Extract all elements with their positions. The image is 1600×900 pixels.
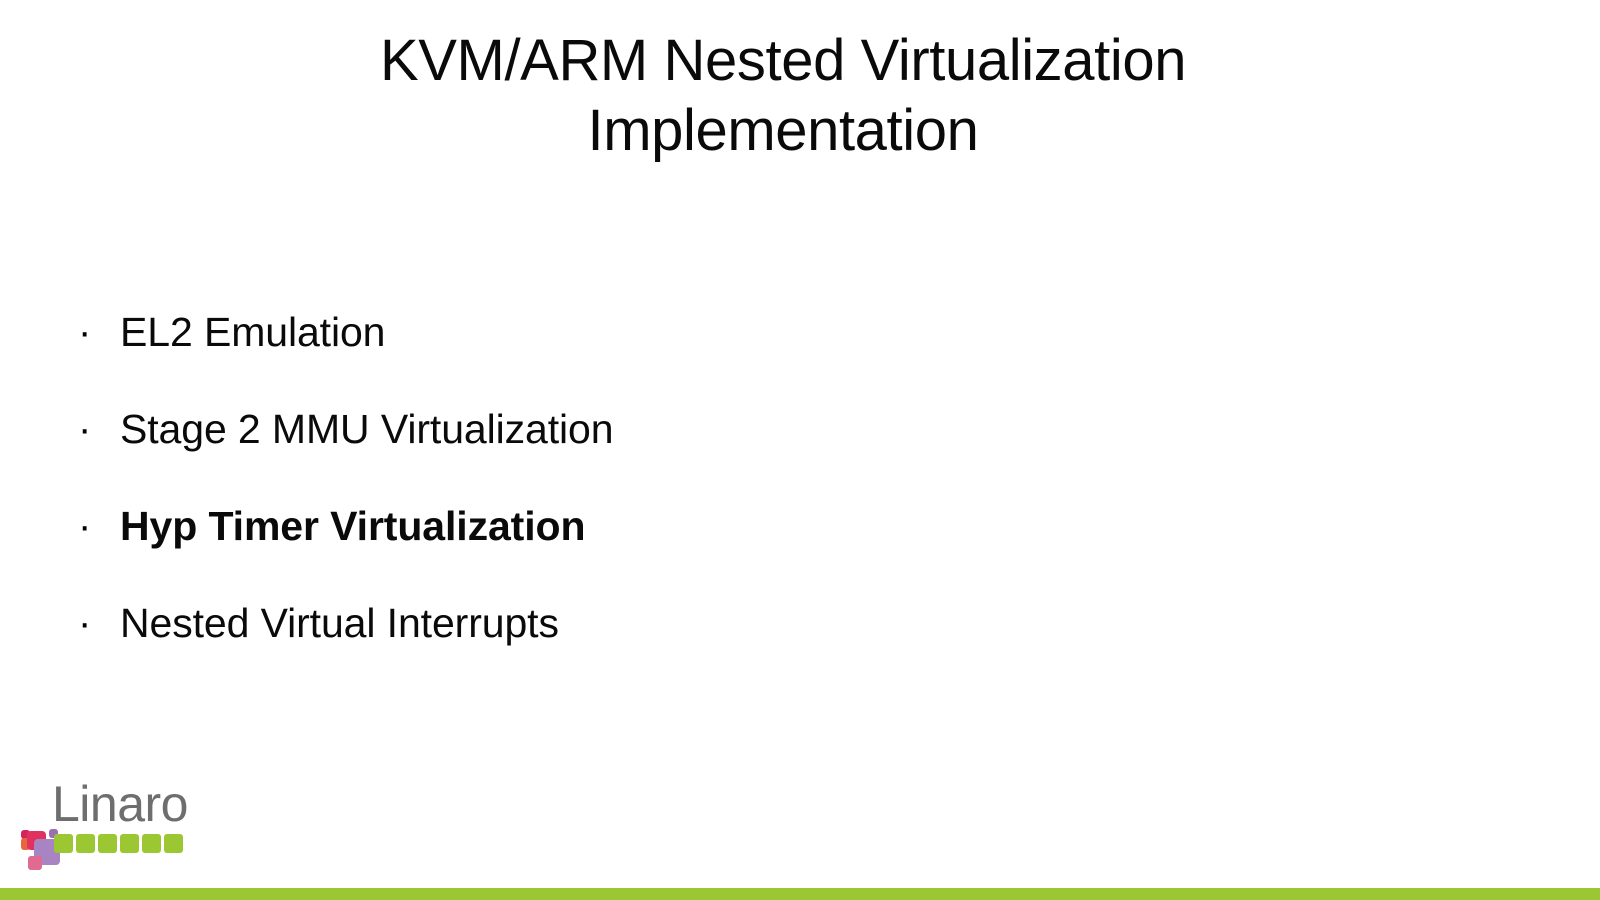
bullet-list: · EL2 Emulation · Stage 2 MMU Virtualiza… [72,299,1472,687]
bullet-dot-icon: · [72,493,120,559]
logo-square-green-3-icon [98,834,117,853]
bullet-dot-icon: · [72,590,120,656]
logo-square-green-6-icon [164,834,183,853]
logo-square-green-4-icon [120,834,139,853]
logo-square-green-2-icon [76,834,95,853]
slide-title: KVM/ARM Nested Virtualization Implementa… [0,26,1566,166]
slide-accent-bar [0,888,1600,900]
list-item[interactable]: · Stage 2 MMU Virtualization [72,396,1472,493]
list-item-label: EL2 Emulation [120,299,385,365]
list-item-label: Hyp Timer Virtualization [120,493,585,559]
bullet-dot-icon: · [72,299,120,365]
list-item[interactable]: · Hyp Timer Virtualization [72,493,1472,590]
list-item-label: Stage 2 MMU Virtualization [120,396,613,462]
logo-square-rose-icon [28,856,42,870]
logo-square-green-1-icon [54,834,73,853]
bullet-dot-icon: · [72,396,120,462]
linaro-logo-squares-icon [16,826,226,864]
presentation-slide: KVM/ARM Nested Virtualization Implementa… [0,0,1600,900]
linaro-logo: Linaro [16,778,226,864]
list-item[interactable]: · EL2 Emulation [72,299,1472,396]
list-item-label: Nested Virtual Interrupts [120,590,559,656]
linaro-wordmark: Linaro [52,778,188,830]
list-item[interactable]: · Nested Virtual Interrupts [72,590,1472,687]
logo-square-green-5-icon [142,834,161,853]
